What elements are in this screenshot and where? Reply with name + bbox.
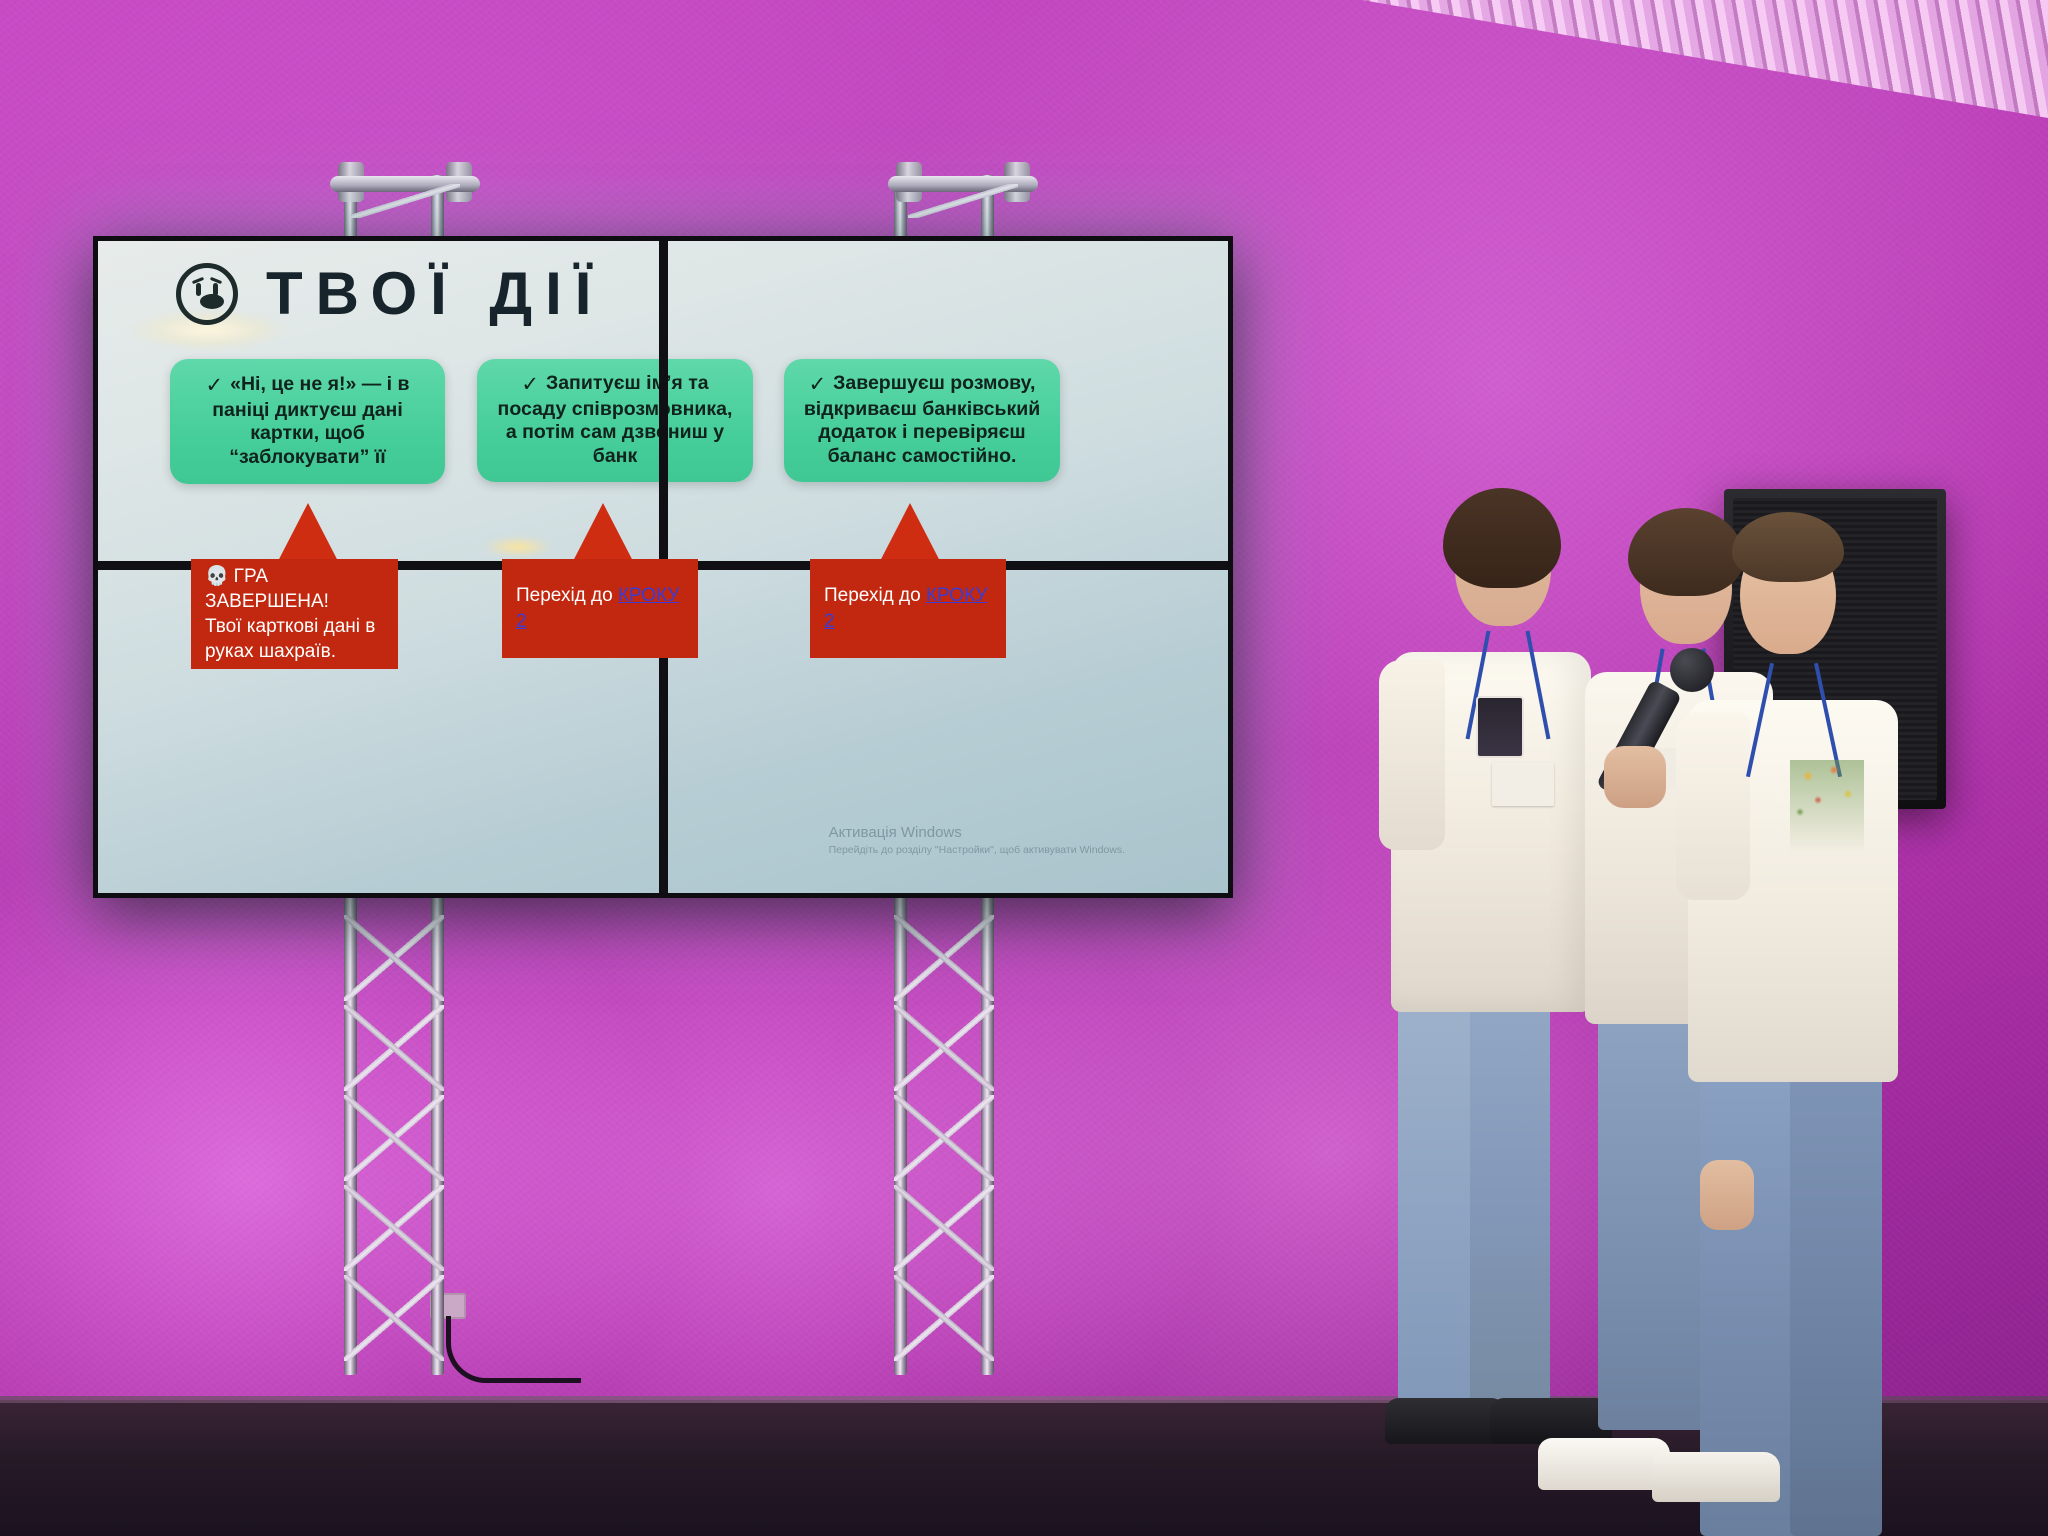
presenter-right-shoe-b	[1652, 1452, 1780, 1502]
panel-top-left	[98, 241, 660, 564]
presenter-right-jeans-right	[1790, 1058, 1882, 1536]
truss-tower-left	[338, 895, 450, 1375]
truss-head-right	[888, 162, 1038, 234]
truss-head-left	[330, 162, 480, 234]
panel-bottom-left	[98, 571, 660, 894]
panel-bottom-right	[667, 571, 1229, 894]
video-wall-grid	[98, 241, 1228, 893]
presenter-left-badge	[1478, 698, 1522, 756]
presenter-left-jeans-right	[1470, 990, 1550, 1430]
presenter-left-badge-card	[1492, 762, 1554, 806]
video-wall[interactable]: ТВОЇ ДІЇ ✓«Ні, це не я!» — і в паніці ди…	[93, 236, 1233, 898]
presenter-left-sleeve	[1379, 660, 1445, 850]
truss-tower-right	[888, 895, 1000, 1375]
panel-top-right	[667, 241, 1229, 564]
presenter-right-shoe-a	[1538, 1438, 1670, 1490]
presenter-right-hand	[1700, 1160, 1754, 1230]
power-cable	[446, 1316, 581, 1383]
stage-scene: ТВОЇ ДІЇ ✓«Ні, це не я!» — і в паніці ди…	[0, 0, 2048, 1536]
microphone-head	[1670, 648, 1714, 692]
presenter-right-flower-embroidery	[1790, 760, 1864, 870]
microphone-hand	[1604, 746, 1666, 808]
presenter-left-shoe-a	[1385, 1398, 1507, 1444]
presenter-right-sleeve	[1676, 712, 1750, 900]
